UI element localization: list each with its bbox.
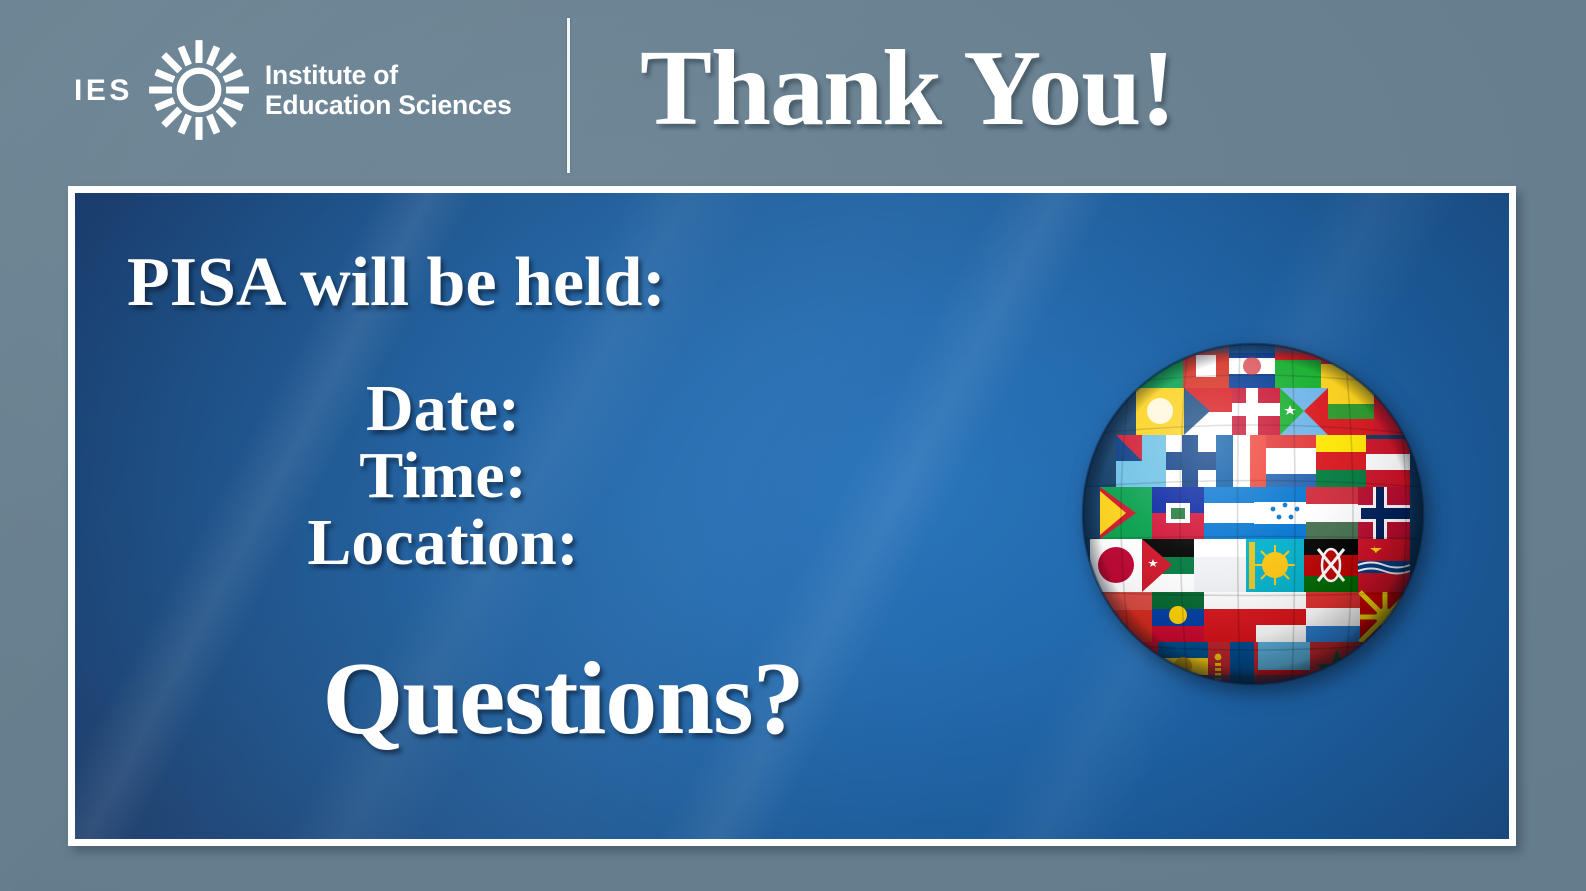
questions-prompt: Questions?	[123, 647, 1003, 751]
slide-canvas: IES	[0, 0, 1586, 891]
detail-date-label: Date:	[123, 375, 763, 442]
header-divider	[567, 18, 570, 173]
sunburst-icon	[147, 38, 251, 142]
detail-time-label: Time:	[123, 442, 763, 509]
page-title: Thank You!	[640, 24, 1400, 154]
ies-name-line-1: Institute of	[265, 60, 512, 90]
panel-heading: PISA will be held:	[127, 245, 1003, 321]
content-panel-frame: PISA will be held: Date: Time: Location:…	[68, 186, 1516, 846]
event-details-list: Date: Time: Location:	[123, 375, 763, 577]
ies-name-line-2: Education Sciences	[265, 90, 512, 120]
slide-header: IES	[0, 0, 1586, 186]
ies-logo: IES	[74, 38, 512, 142]
detail-location-label: Location:	[123, 509, 763, 576]
ies-organization-name: Institute of Education Sciences	[265, 60, 512, 120]
content-panel: PISA will be held: Date: Time: Location:…	[75, 193, 1509, 839]
ies-wordmark: IES	[74, 76, 133, 106]
world-flags-globe-icon	[1078, 339, 1428, 689]
panel-text-block: PISA will be held: Date: Time: Location:…	[123, 245, 1003, 751]
